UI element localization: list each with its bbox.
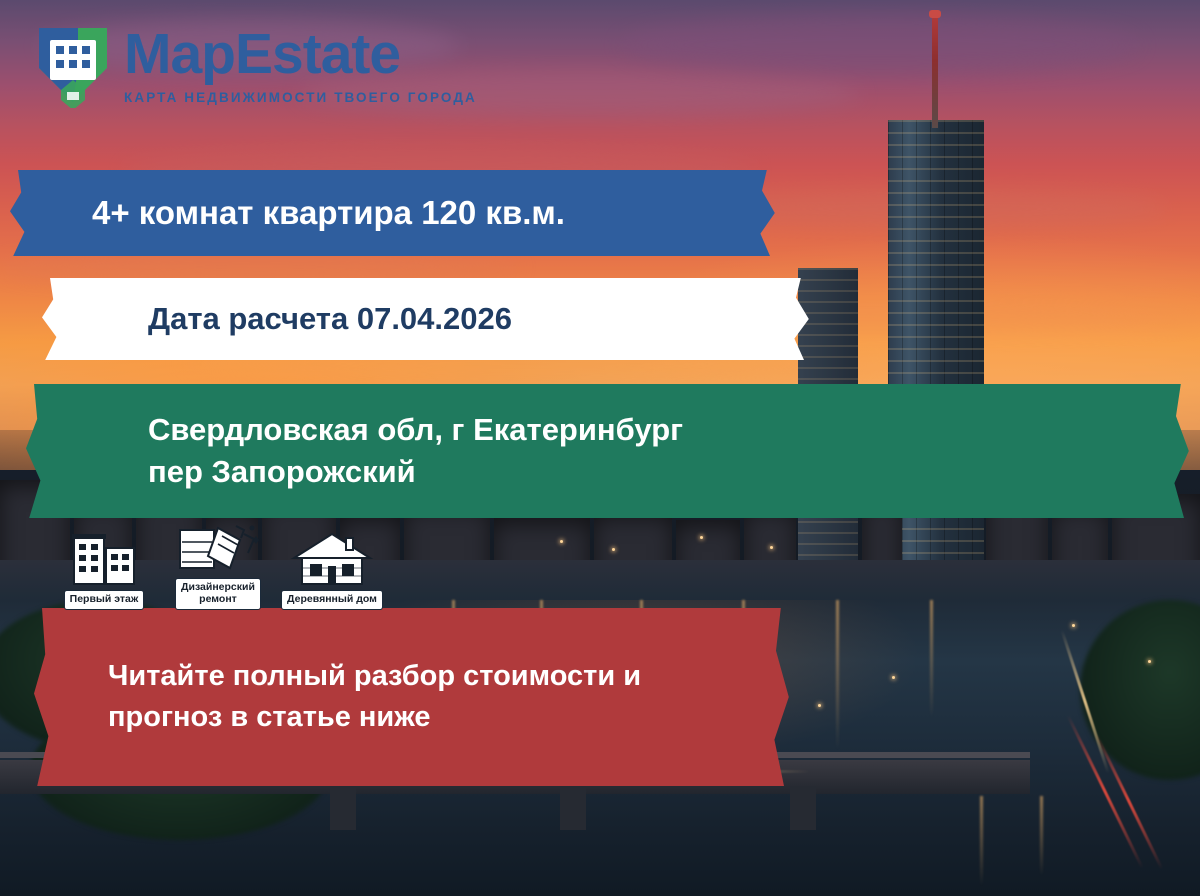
badge-label: Деревянный дом	[281, 590, 383, 610]
street-light	[770, 546, 773, 549]
cta-text: Читайте полный разбор стоимости и прогно…	[52, 656, 770, 738]
brand-name-part2: Estate	[235, 22, 400, 86]
badge-label: Первый этаж	[64, 590, 145, 610]
calculation-date-banner: Дата расчета 07.04.2026	[60, 278, 790, 360]
street-light	[560, 540, 563, 543]
brand-name: MapEstate	[124, 26, 477, 83]
brand-logo[interactable]: MapEstate КАРТА НЕДВИЖИМОСТИ ТВОЕГО ГОРО…	[34, 22, 477, 108]
street-light	[892, 676, 895, 679]
street-light	[818, 704, 821, 707]
bridge-pier	[560, 786, 586, 830]
cloud	[620, 16, 1140, 74]
apartment-building-icon	[58, 532, 150, 588]
street-light	[1072, 624, 1075, 627]
badge-first-floor[interactable]: Первый этаж	[52, 532, 156, 610]
address-banner: Свердловская обл, г Екатеринбург пер Зап…	[44, 384, 1170, 518]
water-reflection	[1040, 796, 1043, 876]
badge-wooden-house[interactable]: Деревянный дом	[280, 532, 384, 610]
water-reflection	[836, 600, 839, 750]
street-light	[700, 536, 703, 539]
map-marker-building-icon	[34, 22, 112, 108]
cta-banner: Читайте полный разбор стоимости и прогно…	[52, 608, 770, 786]
bridge-pier	[330, 786, 356, 830]
address-line-1: Свердловская обл, г Екатеринбург	[148, 409, 1170, 451]
feature-badges: Первый этаж Дизайнерский ремонт	[52, 520, 384, 610]
street-light	[612, 548, 615, 551]
water-reflection	[980, 796, 983, 886]
tower-antenna-tip	[929, 10, 941, 18]
brand-name-part1: Map	[124, 22, 235, 86]
brand-tagline: КАРТА НЕДВИЖИМОСТИ ТВОЕГО ГОРОДА	[124, 90, 477, 105]
property-title-text: 4+ комнат квартира 120 кв.м.	[28, 194, 756, 232]
paint-roller-icon	[172, 520, 264, 576]
promo-poster: MapEstate КАРТА НЕДВИЖИМОСТИ ТВОЕГО ГОРО…	[0, 0, 1200, 896]
water-reflection	[930, 600, 933, 718]
tower-antenna	[932, 16, 938, 128]
wooden-house-icon	[286, 532, 378, 588]
calculation-date-text: Дата расчета 07.04.2026	[60, 301, 790, 337]
brand-wordmark: MapEstate КАРТА НЕДВИЖИМОСТИ ТВОЕГО ГОРО…	[124, 26, 477, 105]
badge-designer-renovation[interactable]: Дизайнерский ремонт	[166, 520, 270, 610]
badge-label: Дизайнерский ремонт	[175, 578, 261, 610]
street-light	[1148, 660, 1151, 663]
address-line-2: пер Запорожский	[148, 451, 1170, 493]
bridge-pier	[790, 786, 816, 830]
property-title-banner: 4+ комнат квартира 120 кв.м.	[28, 170, 756, 256]
